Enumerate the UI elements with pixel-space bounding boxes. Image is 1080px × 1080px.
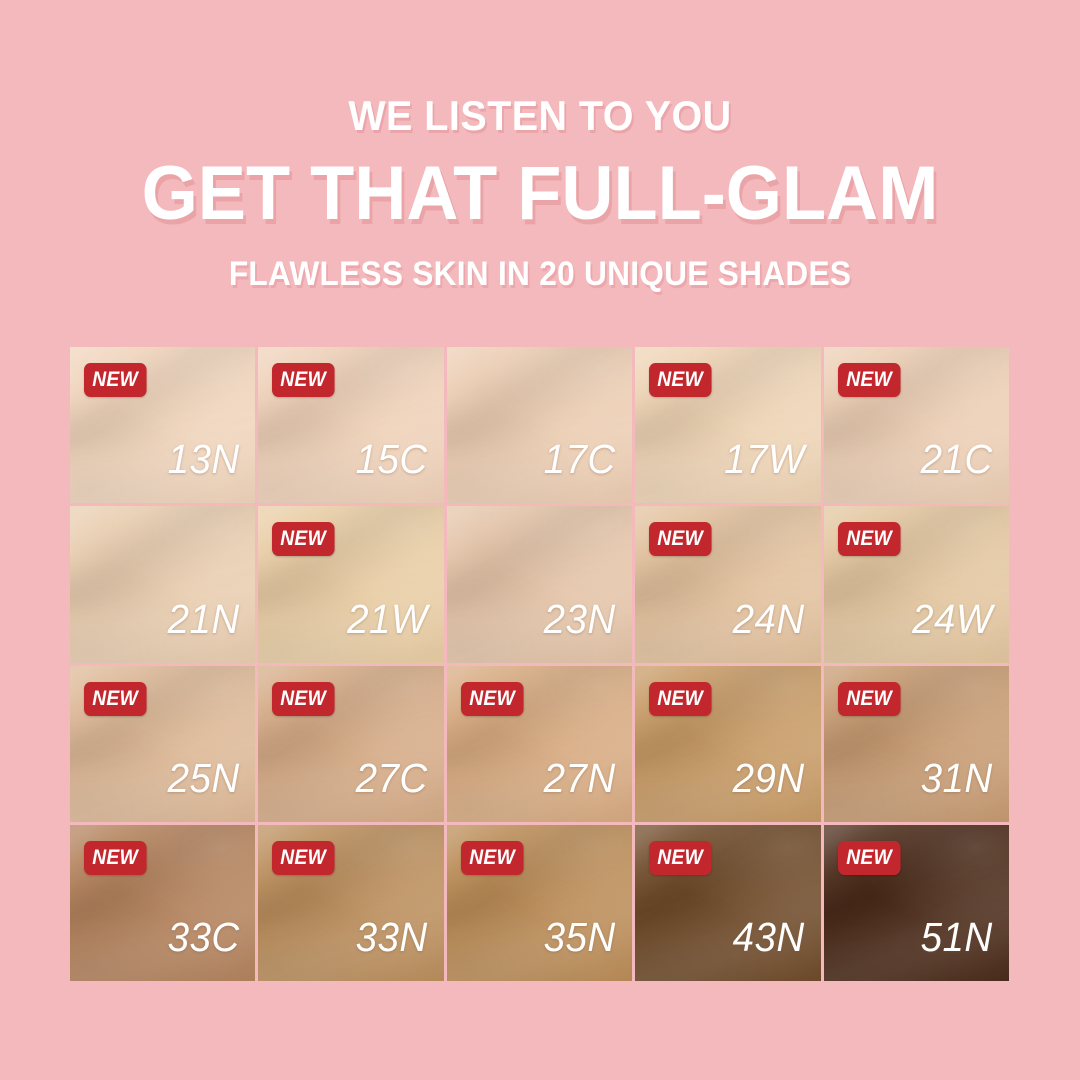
shade-code-label: 35N: [544, 915, 616, 959]
eyebrow-text: WE LISTEN TO YOU: [32, 0, 1047, 140]
shade-code-label: 27N: [544, 756, 616, 800]
shade-code-label: 17W: [724, 437, 805, 481]
swatch-sheen-highlight: [447, 506, 632, 608]
shade-swatch[interactable]: NEW33C: [70, 825, 255, 981]
shade-code-label: 51N: [921, 915, 993, 959]
shade-swatch[interactable]: NEW13N: [70, 347, 255, 503]
new-badge: NEW: [272, 841, 334, 875]
shade-code-label: 27C: [356, 756, 428, 800]
shade-code-label: 25N: [167, 756, 239, 800]
new-badge: NEW: [838, 682, 900, 716]
shade-swatch[interactable]: NEW35N: [447, 825, 632, 981]
new-badge: NEW: [838, 841, 900, 875]
shade-swatch[interactable]: NEW51N: [824, 825, 1009, 981]
shade-swatch[interactable]: 23N: [447, 506, 632, 662]
new-badge: NEW: [461, 682, 523, 716]
new-badge: NEW: [272, 363, 334, 397]
shade-swatch[interactable]: NEW24N: [635, 506, 820, 662]
shade-code-label: 29N: [732, 756, 804, 800]
new-badge: NEW: [649, 682, 711, 716]
shade-swatch[interactable]: NEW25N: [70, 666, 255, 822]
new-badge: NEW: [84, 682, 146, 716]
new-badge: NEW: [461, 841, 523, 875]
shade-swatch[interactable]: NEW27C: [258, 666, 443, 822]
new-badge: NEW: [272, 682, 334, 716]
shade-code-label: 33N: [356, 915, 428, 959]
shade-swatch[interactable]: NEW29N: [635, 666, 820, 822]
shade-code-label: 31N: [921, 756, 993, 800]
shade-swatch[interactable]: NEW27N: [447, 666, 632, 822]
shade-range-promo-graphic: WE LISTEN TO YOU GET THAT FULL-GLAM FLAW…: [0, 0, 1080, 1080]
swatch-sheen-highlight: [70, 506, 255, 608]
shade-swatch[interactable]: 17C: [447, 347, 632, 503]
new-badge: NEW: [649, 841, 711, 875]
new-badge: NEW: [84, 841, 146, 875]
new-badge: NEW: [649, 522, 711, 556]
shade-code-label: 21N: [167, 597, 239, 641]
shade-swatch[interactable]: NEW43N: [635, 825, 820, 981]
new-badge: NEW: [84, 363, 146, 397]
subheading-text: FLAWLESS SKIN IN 20 UNIQUE SHADES: [38, 234, 1042, 294]
shade-code-label: 13N: [167, 437, 239, 481]
page-title: GET THAT FULL-GLAM: [27, 140, 1053, 234]
shade-swatch[interactable]: NEW21W: [258, 506, 443, 662]
shade-code-label: 15C: [356, 437, 428, 481]
shade-code-label: 17C: [544, 437, 616, 481]
swatch-sheen-highlight: [447, 347, 632, 449]
new-badge: NEW: [272, 522, 334, 556]
new-badge: NEW: [838, 522, 900, 556]
new-badge: NEW: [649, 363, 711, 397]
shade-code-label: 24W: [912, 597, 993, 641]
shade-swatch-grid: NEW13NNEW15C17CNEW17WNEW21C21NNEW21W23NN…: [70, 347, 1009, 981]
shade-swatch[interactable]: NEW17W: [635, 347, 820, 503]
shade-swatch[interactable]: NEW31N: [824, 666, 1009, 822]
shade-swatch[interactable]: 21N: [70, 506, 255, 662]
shade-code-label: 21W: [347, 597, 428, 641]
shade-swatch[interactable]: NEW24W: [824, 506, 1009, 662]
shade-code-label: 23N: [544, 597, 616, 641]
shade-code-label: 43N: [732, 915, 804, 959]
shade-swatch[interactable]: NEW33N: [258, 825, 443, 981]
new-badge: NEW: [838, 363, 900, 397]
shade-code-label: 33C: [167, 915, 239, 959]
shade-code-label: 24N: [732, 597, 804, 641]
shade-swatch[interactable]: NEW21C: [824, 347, 1009, 503]
heading-block: WE LISTEN TO YOU GET THAT FULL-GLAM FLAW…: [0, 0, 1080, 294]
shade-code-label: 21C: [921, 437, 993, 481]
shade-swatch[interactable]: NEW15C: [258, 347, 443, 503]
